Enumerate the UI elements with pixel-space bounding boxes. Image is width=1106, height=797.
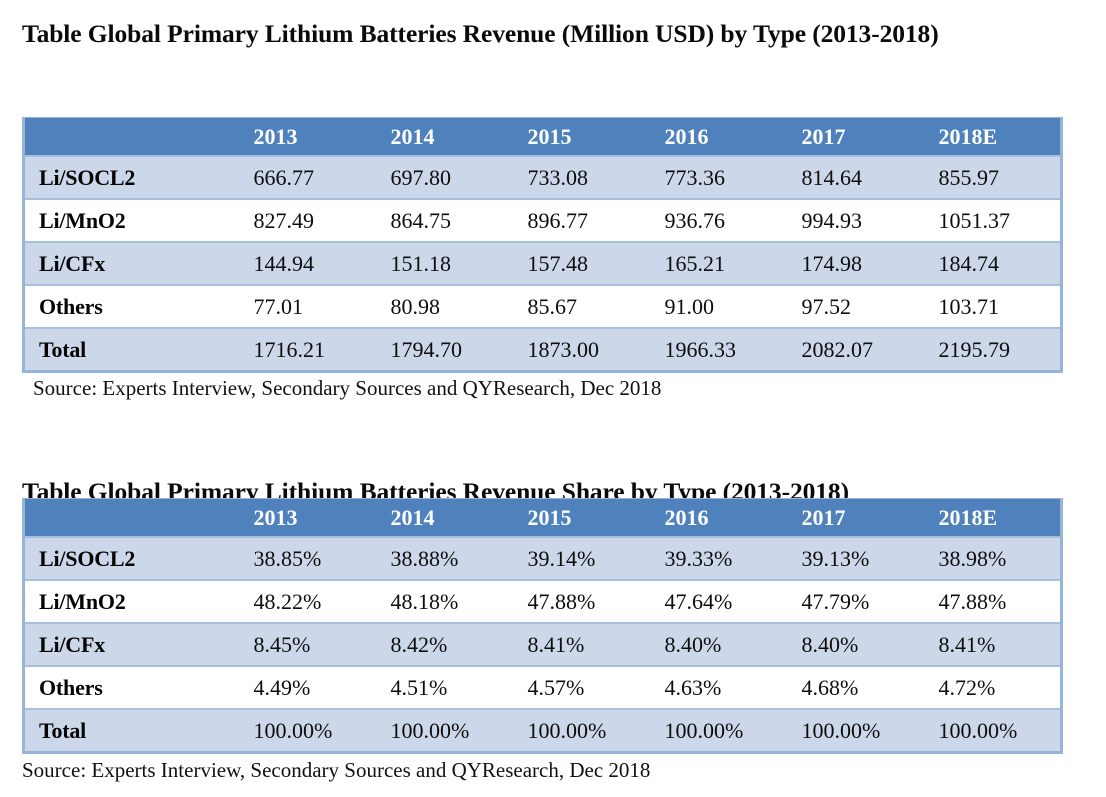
cell-li-socl2-2015: 733.08	[510, 156, 647, 199]
cell-others-2016: 91.00	[647, 285, 784, 328]
cell-share-li-mno2-2018e: 47.88%	[921, 580, 1062, 623]
cell-share-li-mno2-2014: 48.18%	[373, 580, 510, 623]
cell-others-2017: 97.52	[784, 285, 921, 328]
table-header-row: 2013 2014 2015 2016 2017 2018E	[24, 118, 1062, 157]
table-1-title: Table Global Primary Lithium Batteries R…	[22, 12, 1072, 55]
column-header-blank	[24, 499, 236, 538]
cell-share-total-2014: 100.00%	[373, 709, 510, 753]
table-row: Li/SOCL2 666.77 697.80 733.08 773.36 814…	[24, 156, 1062, 199]
cell-total-2017: 2082.07	[784, 328, 921, 372]
cell-others-2013: 77.01	[236, 285, 373, 328]
row-label-li-cfx: Li/CFx	[24, 623, 236, 666]
cell-share-li-socl2-2018e: 38.98%	[921, 537, 1062, 580]
revenue-table: 2013 2014 2015 2016 2017 2018E Li/SOCL2 …	[22, 117, 1063, 373]
table-row: Li/MnO2 827.49 864.75 896.77 936.76 994.…	[24, 199, 1062, 242]
revenue-table-body: Li/SOCL2 666.77 697.80 733.08 773.36 814…	[24, 156, 1062, 372]
cell-li-socl2-2013: 666.77	[236, 156, 373, 199]
cell-others-2015: 85.67	[510, 285, 647, 328]
column-header-2018e: 2018E	[921, 118, 1062, 157]
cell-share-li-cfx-2015: 8.41%	[510, 623, 647, 666]
cell-li-cfx-2017: 174.98	[784, 242, 921, 285]
cell-li-mno2-2014: 864.75	[373, 199, 510, 242]
column-header-2014: 2014	[373, 499, 510, 538]
row-label-li-mno2: Li/MnO2	[24, 199, 236, 242]
cell-li-mno2-2013: 827.49	[236, 199, 373, 242]
cell-li-socl2-2014: 697.80	[373, 156, 510, 199]
cell-li-cfx-2013: 144.94	[236, 242, 373, 285]
cell-others-2018e: 103.71	[921, 285, 1062, 328]
column-header-2013: 2013	[236, 118, 373, 157]
revenue-share-table-body: Li/SOCL2 38.85% 38.88% 39.14% 39.33% 39.…	[24, 537, 1062, 753]
table-row: Li/SOCL2 38.85% 38.88% 39.14% 39.33% 39.…	[24, 537, 1062, 580]
cell-total-2015: 1873.00	[510, 328, 647, 372]
column-header-blank	[24, 118, 236, 157]
cell-share-li-mno2-2016: 47.64%	[647, 580, 784, 623]
cell-li-socl2-2018e: 855.97	[921, 156, 1062, 199]
column-header-2015: 2015	[510, 118, 647, 157]
table-row: Others 77.01 80.98 85.67 91.00 97.52 103…	[24, 285, 1062, 328]
row-label-li-mno2: Li/MnO2	[24, 580, 236, 623]
cell-share-li-cfx-2017: 8.40%	[784, 623, 921, 666]
cell-share-total-2013: 100.00%	[236, 709, 373, 753]
cell-share-li-mno2-2013: 48.22%	[236, 580, 373, 623]
cell-li-mno2-2015: 896.77	[510, 199, 647, 242]
document-page: Table Global Primary Lithium Batteries R…	[0, 0, 1106, 797]
cell-li-mno2-2018e: 1051.37	[921, 199, 1062, 242]
row-label-li-socl2: Li/SOCL2	[24, 537, 236, 580]
table-row: Others 4.49% 4.51% 4.57% 4.63% 4.68% 4.7…	[24, 666, 1062, 709]
revenue-table-header: 2013 2014 2015 2016 2017 2018E	[24, 118, 1062, 157]
cell-share-total-2016: 100.00%	[647, 709, 784, 753]
row-label-others: Others	[24, 666, 236, 709]
cell-share-total-2015: 100.00%	[510, 709, 647, 753]
table-1-source-note: Source: Experts Interview, Secondary Sou…	[33, 375, 661, 401]
cell-li-mno2-2016: 936.76	[647, 199, 784, 242]
column-header-2016: 2016	[647, 499, 784, 538]
cell-share-li-cfx-2016: 8.40%	[647, 623, 784, 666]
table-header-row: 2013 2014 2015 2016 2017 2018E	[24, 499, 1062, 538]
row-label-others: Others	[24, 285, 236, 328]
cell-li-cfx-2014: 151.18	[373, 242, 510, 285]
row-label-li-cfx: Li/CFx	[24, 242, 236, 285]
cell-total-2018e: 2195.79	[921, 328, 1062, 372]
cell-li-cfx-2016: 165.21	[647, 242, 784, 285]
cell-li-cfx-2015: 157.48	[510, 242, 647, 285]
column-header-2015: 2015	[510, 499, 647, 538]
table-row: Li/CFx 8.45% 8.42% 8.41% 8.40% 8.40% 8.4…	[24, 623, 1062, 666]
table-2-source-note: Source: Experts Interview, Secondary Sou…	[22, 757, 650, 783]
cell-share-others-2016: 4.63%	[647, 666, 784, 709]
cell-share-li-socl2-2017: 39.13%	[784, 537, 921, 580]
cell-share-others-2017: 4.68%	[784, 666, 921, 709]
cell-li-mno2-2017: 994.93	[784, 199, 921, 242]
revenue-share-table-header: 2013 2014 2015 2016 2017 2018E	[24, 499, 1062, 538]
table-row: Total 1716.21 1794.70 1873.00 1966.33 20…	[24, 328, 1062, 372]
cell-share-li-socl2-2016: 39.33%	[647, 537, 784, 580]
cell-share-total-2018e: 100.00%	[921, 709, 1062, 753]
column-header-2017: 2017	[784, 499, 921, 538]
cell-total-2016: 1966.33	[647, 328, 784, 372]
cell-share-li-socl2-2013: 38.85%	[236, 537, 373, 580]
column-header-2013: 2013	[236, 499, 373, 538]
cell-share-others-2014: 4.51%	[373, 666, 510, 709]
table-row: Li/MnO2 48.22% 48.18% 47.88% 47.64% 47.7…	[24, 580, 1062, 623]
row-label-total: Total	[24, 709, 236, 753]
column-header-2016: 2016	[647, 118, 784, 157]
cell-others-2014: 80.98	[373, 285, 510, 328]
table-row: Li/CFx 144.94 151.18 157.48 165.21 174.9…	[24, 242, 1062, 285]
cell-total-2013: 1716.21	[236, 328, 373, 372]
row-label-li-socl2: Li/SOCL2	[24, 156, 236, 199]
table-row: Total 100.00% 100.00% 100.00% 100.00% 10…	[24, 709, 1062, 753]
cell-share-others-2015: 4.57%	[510, 666, 647, 709]
column-header-2018e: 2018E	[921, 499, 1062, 538]
cell-share-li-socl2-2014: 38.88%	[373, 537, 510, 580]
cell-total-2014: 1794.70	[373, 328, 510, 372]
column-header-2014: 2014	[373, 118, 510, 157]
cell-share-total-2017: 100.00%	[784, 709, 921, 753]
cell-li-socl2-2017: 814.64	[784, 156, 921, 199]
cell-share-li-mno2-2015: 47.88%	[510, 580, 647, 623]
cell-share-li-mno2-2017: 47.79%	[784, 580, 921, 623]
cell-share-others-2018e: 4.72%	[921, 666, 1062, 709]
cell-share-li-socl2-2015: 39.14%	[510, 537, 647, 580]
cell-share-li-cfx-2014: 8.42%	[373, 623, 510, 666]
column-header-2017: 2017	[784, 118, 921, 157]
cell-share-li-cfx-2018e: 8.41%	[921, 623, 1062, 666]
cell-li-socl2-2016: 773.36	[647, 156, 784, 199]
cell-li-cfx-2018e: 184.74	[921, 242, 1062, 285]
cell-share-li-cfx-2013: 8.45%	[236, 623, 373, 666]
row-label-total: Total	[24, 328, 236, 372]
revenue-share-table: 2013 2014 2015 2016 2017 2018E Li/SOCL2 …	[22, 498, 1063, 754]
cell-share-others-2013: 4.49%	[236, 666, 373, 709]
